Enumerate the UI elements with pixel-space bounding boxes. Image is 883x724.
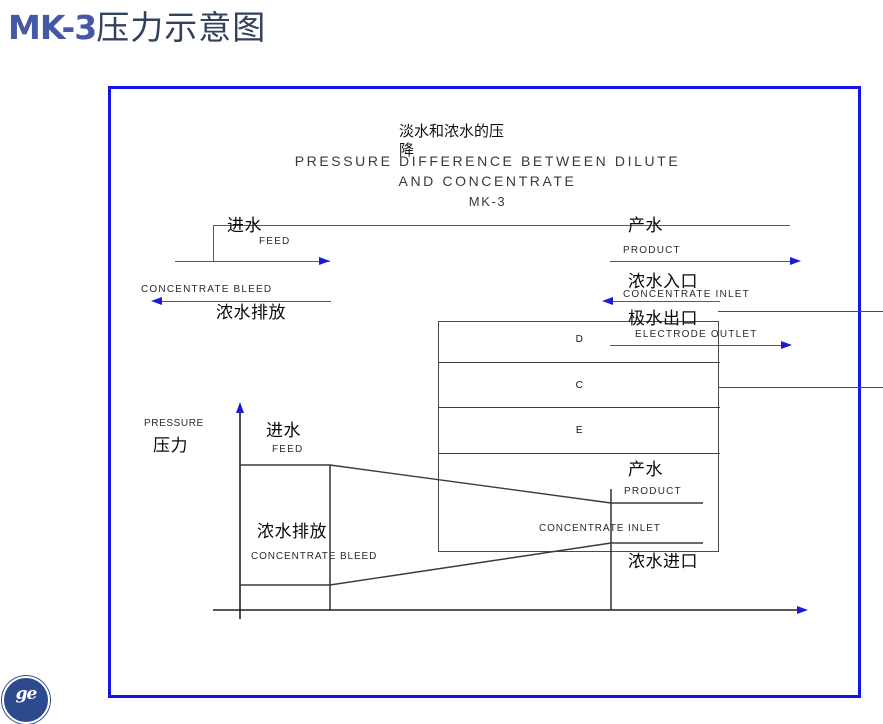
diagram-frame: PRESSURE DIFFERENCE BETWEEN DILUTE AND C… <box>108 86 861 698</box>
chart-feed-label-en: FEED <box>272 444 303 455</box>
title-model: MK-3 <box>8 8 96 47</box>
slide-canvas: MK-3压力示意图 PRESSURE DIFFERENCE BETWEEN DI… <box>0 0 883 712</box>
header-cn-line2: 降 <box>399 139 414 160</box>
chart-inlet-label-en: CONCENTRATE INLET <box>539 523 661 534</box>
chart-bleed-label-en: CONCENTRATE BLEED <box>251 551 377 562</box>
chart-bleed-label-cn: 浓水排放 <box>257 517 327 542</box>
chart-feed-label-cn: 进水 <box>266 416 301 441</box>
chart-ylabel-en: PRESSURE <box>144 418 204 429</box>
chart-x-axis-arrow-icon <box>797 606 808 614</box>
chart-product-label-cn: 产水 <box>628 455 663 480</box>
chart-ylabel-cn: 压力 <box>153 431 188 456</box>
chart-y-axis-arrow-icon <box>236 402 244 413</box>
pressure-chart <box>111 89 864 701</box>
chart-product-label-en: PRODUCT <box>624 486 682 497</box>
ge-logo: ge <box>2 676 50 724</box>
logo-monogram: ge <box>4 684 48 704</box>
chart-inlet-label-cn: 浓水进口 <box>628 547 698 572</box>
page-title: MK-3压力示意图 <box>8 6 96 50</box>
header-cn-line1: 淡水和浓水的压 <box>399 120 504 141</box>
title-text: 压力示意图 <box>96 6 266 50</box>
